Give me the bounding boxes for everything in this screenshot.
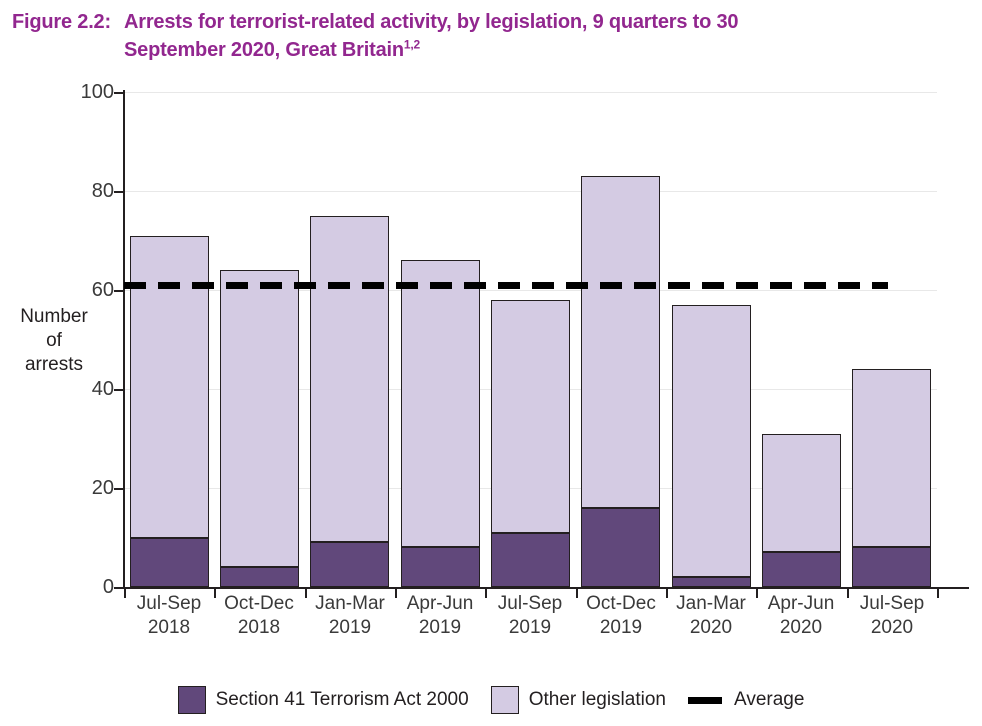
bar-group[interactable]: [672, 92, 751, 587]
legend-swatch-icon: [178, 686, 206, 714]
x-tick-label-8: Jul-Sep2020: [847, 592, 937, 640]
plot-area: [124, 92, 937, 587]
average-reference-line: [124, 282, 888, 289]
x-tick-label-line-2: 2019: [305, 616, 395, 640]
bar-segment-other-legislation[interactable]: [130, 236, 209, 538]
x-tick-label-3: Apr-Jun2019: [395, 592, 485, 640]
bar-segment-other-legislation[interactable]: [220, 270, 299, 567]
bar-group[interactable]: [310, 92, 389, 587]
bar-segment-other-legislation[interactable]: [401, 260, 480, 547]
x-tick-label-line-1: Jan-Mar: [305, 592, 395, 616]
y-tick-label-0: 0: [42, 577, 114, 597]
y-axis-title-line-2: of: [2, 329, 106, 353]
bar-segment-section-41[interactable]: [220, 567, 299, 587]
x-tick-label-line-1: Apr-Jun: [395, 592, 485, 616]
x-tick-label-line-1: Jul-Sep: [485, 592, 575, 616]
bar-segment-section-41[interactable]: [672, 577, 751, 587]
bar-segment-other-legislation[interactable]: [491, 300, 570, 533]
legend-label: Other legislation: [529, 689, 666, 711]
bar-group[interactable]: [401, 92, 480, 587]
bar-segment-other-legislation[interactable]: [581, 176, 660, 508]
x-tick-label-line-2: 2019: [395, 616, 485, 640]
x-axis-line: [123, 587, 969, 589]
y-tick-label-80: 80: [42, 181, 114, 201]
y-tick-label-60: 60: [42, 280, 114, 300]
bar-group[interactable]: [220, 92, 299, 587]
x-tick-label-line-2: 2018: [214, 616, 304, 640]
x-tick-label-line-2: 2020: [847, 616, 937, 640]
bar-segment-section-41[interactable]: [310, 542, 389, 587]
bar-segment-other-legislation[interactable]: [672, 305, 751, 577]
bar-group[interactable]: [581, 92, 660, 587]
y-tick-label-100: 100: [42, 82, 114, 102]
bar-group[interactable]: [491, 92, 570, 587]
legend-item-3[interactable]: Average: [688, 689, 804, 711]
bar-segment-other-legislation[interactable]: [762, 434, 841, 553]
x-tick-label-line-2: 2020: [666, 616, 756, 640]
y-axis-title-line-3: arrests: [2, 353, 106, 377]
bar-group[interactable]: [852, 92, 931, 587]
x-tick-label-1: Oct-Dec2018: [214, 592, 304, 640]
y-axis-title: Number of arrests: [2, 305, 106, 377]
legend-item-2[interactable]: Other legislation: [491, 686, 666, 714]
bar-segment-section-41[interactable]: [401, 547, 480, 587]
y-tick-60: 60: [0, 280, 114, 300]
bar-group[interactable]: [762, 92, 841, 587]
legend-label: Section 41 Terrorism Act 2000: [216, 689, 469, 711]
x-tick-label-line-1: Jul-Sep: [124, 592, 214, 616]
bar-segment-section-41[interactable]: [852, 547, 931, 587]
x-tick-label-line-1: Jul-Sep: [847, 592, 937, 616]
x-tick-label-line-1: Apr-Jun: [756, 592, 846, 616]
x-tick-label-line-2: 2018: [124, 616, 214, 640]
y-tick-100: 100: [0, 82, 114, 102]
bar-segment-section-41[interactable]: [491, 533, 570, 587]
y-tick-80: 80: [0, 181, 114, 201]
bar-segment-section-41[interactable]: [581, 508, 660, 587]
y-tick-40: 40: [0, 379, 114, 399]
legend-dash-icon: [688, 697, 722, 704]
x-tick-label-0: Jul-Sep2018: [124, 592, 214, 640]
x-tick-label-5: Oct-Dec2019: [576, 592, 666, 640]
chart-canvas: Number of arrests 020406080100 Jul-Sep20…: [0, 0, 982, 726]
y-tick-20: 20: [0, 478, 114, 498]
bar-segment-other-legislation[interactable]: [310, 216, 389, 543]
x-tick-label-6: Jan-Mar2020: [666, 592, 756, 640]
x-tick-label-4: Jul-Sep2019: [485, 592, 575, 640]
chart-legend: Section 41 Terrorism Act 2000Other legis…: [0, 686, 982, 714]
y-tick-label-20: 20: [42, 478, 114, 498]
x-tick-label-line-1: Oct-Dec: [576, 592, 666, 616]
y-tick-label-40: 40: [42, 379, 114, 399]
x-tick-label-line-1: Oct-Dec: [214, 592, 304, 616]
bar-segment-section-41[interactable]: [762, 552, 841, 587]
y-axis-title-line-1: Number: [2, 305, 106, 329]
bar-segment-section-41[interactable]: [130, 538, 209, 588]
legend-swatch-icon: [491, 686, 519, 714]
x-tick-label-line-2: 2019: [485, 616, 575, 640]
x-tick-mark-9: [937, 589, 939, 598]
bar-segment-other-legislation[interactable]: [852, 369, 931, 547]
x-tick-label-2: Jan-Mar2019: [305, 592, 395, 640]
legend-label: Average: [734, 689, 804, 711]
x-tick-label-7: Apr-Jun2020: [756, 592, 846, 640]
x-tick-label-line-1: Jan-Mar: [666, 592, 756, 616]
bar-group[interactable]: [130, 92, 209, 587]
x-tick-label-line-2: 2020: [756, 616, 846, 640]
y-tick-0: 0: [0, 577, 114, 597]
legend-item-1[interactable]: Section 41 Terrorism Act 2000: [178, 686, 469, 714]
x-tick-label-line-2: 2019: [576, 616, 666, 640]
